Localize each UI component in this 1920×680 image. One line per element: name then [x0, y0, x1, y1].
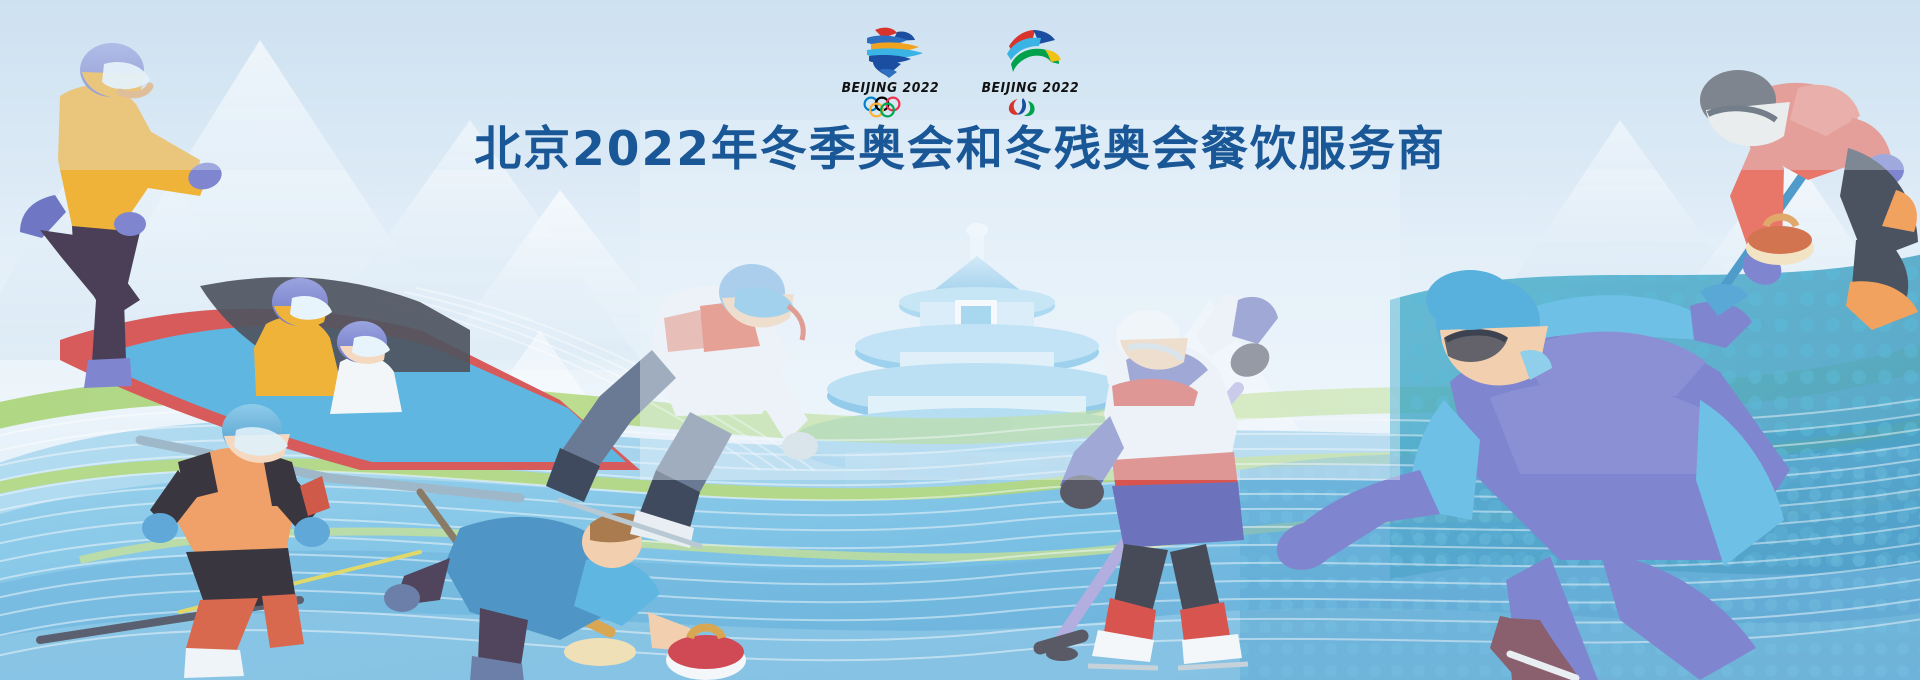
olympic-emblem: BEIJING 2022 [838, 24, 942, 118]
paralympic-emblem: BEIJING 2022 [978, 24, 1082, 118]
paralympic-emblem-icon [993, 24, 1067, 80]
athlete-ice-hockey-player [1040, 294, 1278, 668]
agitos-icon [1002, 96, 1058, 118]
paralympic-wordmark: BEIJING 2022 [981, 81, 1079, 96]
athlete-speed-skater-front [546, 264, 818, 548]
olympic-rings-icon [862, 96, 918, 118]
olympic-wordmark: BEIJING 2022 [841, 81, 939, 96]
page-title: 北京2022年冬季奥会和冬残奥会餐饮服务商 [0, 121, 1920, 179]
athlete-speed-skater-large [1270, 270, 1790, 680]
olympic-banner: BEIJING 2022 BEIJING 2022 [0, 0, 1920, 680]
olympic-emblem-icon [853, 24, 927, 80]
emblem-row: BEIJING 2022 BEIJING 2022 [0, 24, 1920, 120]
